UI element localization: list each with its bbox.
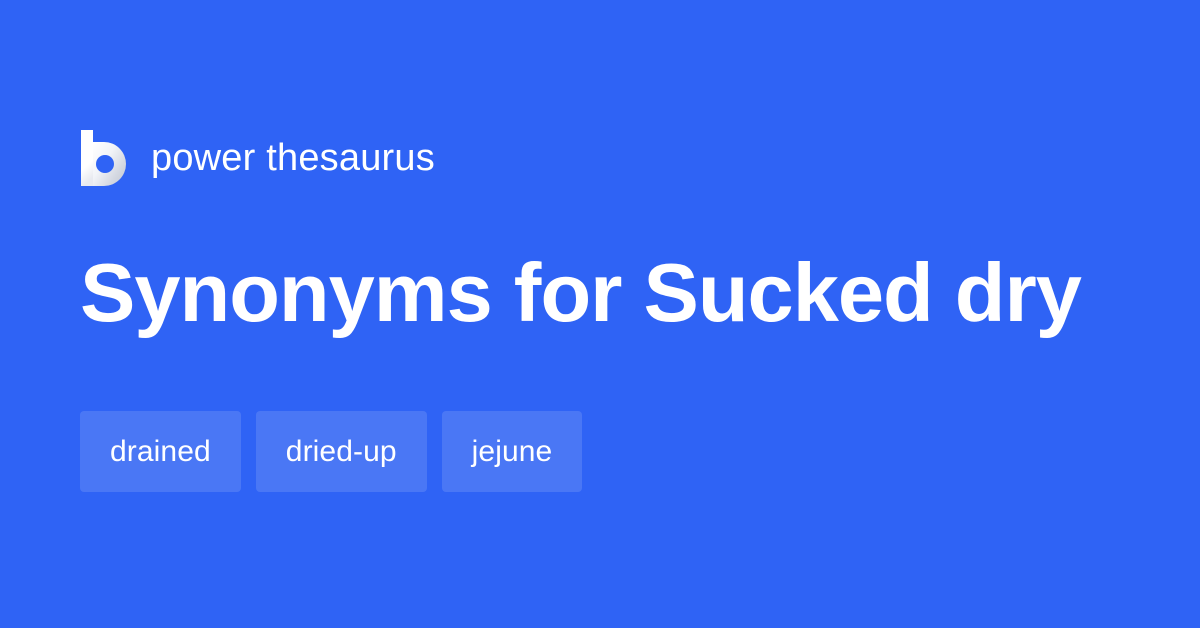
- synonym-chip[interactable]: jejune: [442, 411, 583, 492]
- brand-name: power thesaurus: [151, 136, 435, 180]
- page-title: Synonyms for Sucked dry: [80, 245, 1140, 341]
- synonym-chip-label: drained: [110, 435, 211, 469]
- synonym-chip[interactable]: dried-up: [256, 411, 427, 492]
- power-thesaurus-b-logo-icon: [80, 130, 126, 186]
- synonym-chip-label: jejune: [472, 435, 553, 469]
- brand-header[interactable]: power thesaurus: [80, 127, 435, 189]
- synonym-chip-label: dried-up: [286, 435, 397, 469]
- power-thesaurus-og-card: power thesaurus Synonyms for Sucked dry …: [0, 0, 1200, 628]
- synonym-chip[interactable]: drained: [80, 411, 241, 492]
- synonym-chip-list: drained dried-up jejune: [80, 411, 582, 492]
